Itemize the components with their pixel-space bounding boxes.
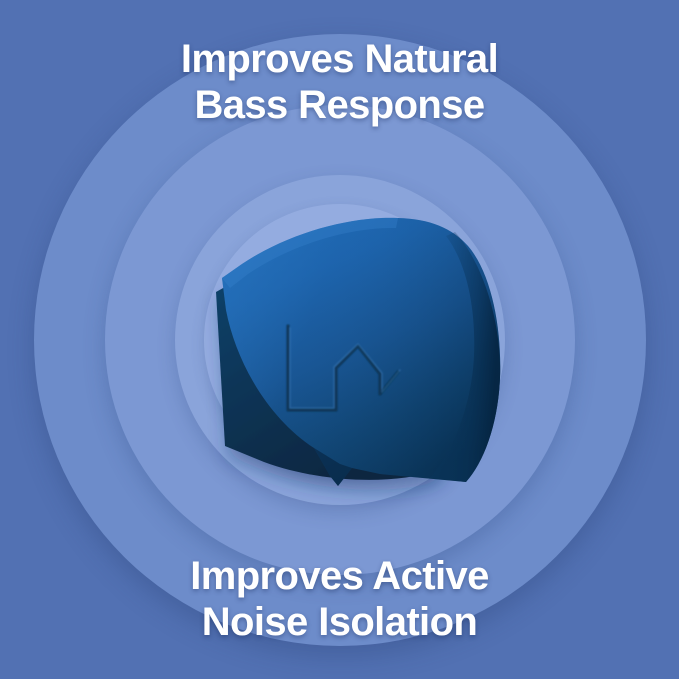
headline-bottom: Improves Active Noise Isolation	[0, 553, 679, 645]
headline-top-line2: Bass Response	[0, 82, 679, 128]
product-feature-graphic: Improves Natural Bass Response Improves …	[0, 0, 679, 679]
headline-bottom-line1: Improves Active	[0, 553, 679, 599]
headline-top-line1: Improves Natural	[0, 36, 679, 82]
headline-bottom-line2: Noise Isolation	[0, 599, 679, 645]
headline-top: Improves Natural Bass Response	[0, 36, 679, 128]
